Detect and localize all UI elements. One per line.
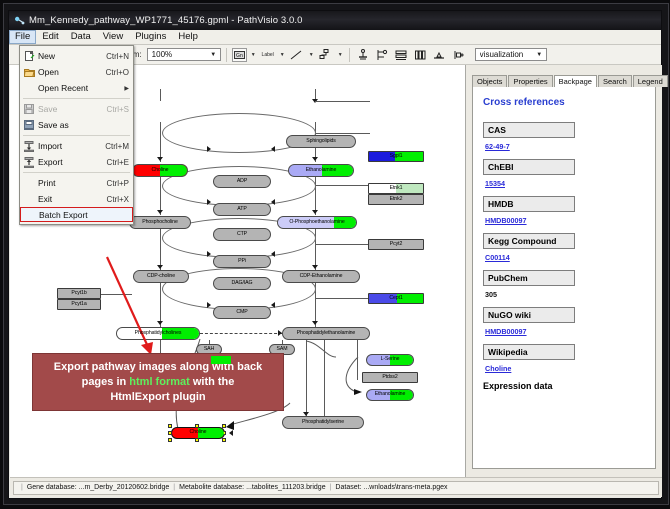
menu-item-label: Export	[38, 157, 103, 167]
arrow-icon	[271, 251, 275, 257]
node-choline-selected[interactable]: Choline	[171, 427, 225, 439]
connector	[160, 122, 161, 162]
xref-link-nugo[interactable]: HMDB00097	[483, 327, 647, 336]
label-tool-text: Label	[262, 52, 274, 58]
menu-item-accel: Ctrl+X	[103, 195, 129, 204]
status-sep: |	[169, 484, 179, 491]
arrow-icon	[312, 321, 318, 325]
menu-plugins[interactable]: Plugins	[129, 30, 172, 44]
status-dataset-value: ...wnloads\trans-meta.pgex	[363, 484, 447, 491]
menu-item-batch-export[interactable]: Batch Export	[20, 207, 133, 222]
node-cdp-ethanolamine[interactable]: CDP-Ethanolamine	[282, 270, 360, 283]
import-icon	[20, 141, 38, 152]
node-ppi[interactable]: PPi	[213, 255, 271, 268]
xref-key: HMDB	[483, 196, 575, 212]
chevron-down-icon-2: ▼	[535, 52, 544, 58]
arrow-icon	[157, 157, 163, 161]
node-label: SAH	[204, 347, 214, 352]
tab-properties[interactable]: Properties	[508, 75, 552, 88]
submenu-arrow-icon: ▶	[124, 85, 129, 92]
menu-item-accel: Ctrl+O	[102, 68, 129, 77]
xref-row-nugo: NuGO wiki HMDB00097	[483, 307, 647, 336]
tab-objects[interactable]: Objects	[472, 75, 507, 88]
node-label: Choline	[190, 430, 207, 435]
menu-item-export[interactable]: Export Ctrl+E	[20, 154, 133, 170]
menu-help[interactable]: Help	[172, 30, 204, 44]
node-label: Ptdss2	[382, 375, 397, 380]
selection-handle[interactable]	[222, 424, 226, 428]
menu-item-label: Batch Export	[39, 210, 128, 220]
selection-handle[interactable]	[168, 438, 172, 442]
label-dropdown-icon[interactable]: ▼	[279, 52, 286, 58]
node-label: Pcyt1a	[71, 302, 86, 307]
menu-item-open[interactable]: Open Ctrl+O	[20, 64, 133, 80]
xref-row-cas: CAS 62-49-7	[483, 122, 647, 151]
menu-item-new[interactable]: New Ctrl+N	[20, 48, 133, 64]
arrow-icon	[207, 251, 211, 257]
node-label: Phosphatidylethanolamine	[297, 331, 355, 336]
xref-key: NuGO wiki	[483, 307, 575, 323]
interaction-tool-icon[interactable]	[318, 48, 334, 62]
open-folder-icon	[20, 67, 38, 78]
menu-item-exit[interactable]: Exit Ctrl+X	[20, 191, 133, 207]
node-cmp[interactable]: CMP	[213, 306, 271, 319]
node-label: L-Serine	[381, 357, 400, 362]
node-gene-pcyt1a[interactable]: Pcyt1a	[57, 299, 101, 310]
menu-item-accel: Ctrl+M	[101, 142, 129, 151]
menu-item-import[interactable]: Import Ctrl+M	[20, 138, 133, 154]
export-icon	[20, 157, 38, 168]
node-label: Etnk2	[390, 197, 403, 202]
selection-handle[interactable]	[168, 431, 172, 435]
backpage-content: Cross references CAS 62-49-7 ChEBI 15354…	[472, 87, 656, 469]
annotation-arrow-icon	[105, 255, 165, 360]
node-label: Phosphatidylserine	[302, 420, 344, 425]
xref-key: Kegg Compound	[483, 233, 575, 249]
group-icon[interactable]	[431, 48, 447, 62]
node-label: Sphingolipids	[306, 139, 336, 144]
save-as-icon	[20, 120, 38, 130]
xref-row-hmdb: HMDB HMDB00097	[483, 196, 647, 225]
node-gene-sgpl1[interactable]: Sgpl1	[368, 151, 424, 162]
menu-separator	[23, 172, 130, 173]
node-label: Pcyt1b	[71, 291, 86, 296]
toolbar-separator-2	[349, 48, 350, 62]
status-text: | Gene database: ...m_Derby_20120602.bri…	[13, 481, 659, 495]
node-ethanolamine-top[interactable]: Ethanolamine	[288, 164, 354, 177]
node-phosphocholine[interactable]: Phosphocholine	[129, 216, 191, 229]
menu-item-label: Print	[38, 178, 103, 188]
toolbar-separator	[226, 48, 227, 62]
banner-line-3: HtmlExport plugin	[110, 390, 205, 405]
arrow-icon	[157, 210, 163, 214]
menu-separator	[23, 135, 130, 136]
node-label: ADP	[237, 179, 247, 184]
menu-bar: File Edit Data View Plugins Help	[9, 30, 661, 45]
visualization-combo[interactable]: visualization ▼	[475, 48, 547, 61]
xref-link-kegg[interactable]: C00114	[483, 253, 647, 262]
menu-item-label: Save as	[38, 120, 125, 130]
connector	[315, 175, 316, 215]
status-dataset-label: Dataset:	[335, 484, 361, 491]
menu-file[interactable]: File	[9, 30, 36, 44]
connector	[315, 244, 370, 245]
xref-value-pubchem: 305	[483, 290, 647, 299]
connector	[315, 133, 370, 134]
status-gene-db-value: ...m_Derby_20120602.bridge	[79, 484, 170, 491]
node-gene-etnk2[interactable]: Etnk2	[368, 194, 424, 205]
node-label: Cept1	[389, 296, 402, 301]
side-panel: Objects Properties Backpage Search Legen…	[466, 65, 662, 477]
selection-handle[interactable]	[195, 438, 199, 442]
status-gene-db-label: Gene database:	[27, 484, 77, 491]
datanode-dropdown-icon[interactable]: ▼	[250, 52, 257, 58]
status-metabolite-db-value: ...tabolites_111203.bridge	[246, 484, 326, 491]
node-ctp[interactable]: CTP	[213, 228, 271, 241]
node-phosphatidylethanolamine[interactable]: Phosphatidylethanolamine	[282, 327, 370, 340]
xref-link-cas[interactable]: 62-49-7	[483, 142, 647, 151]
node-label: Choline	[152, 168, 169, 173]
selection-handle[interactable]	[222, 438, 226, 442]
align-left-icon[interactable]	[374, 48, 390, 62]
node-ethanolamine-bottom[interactable]: Ethanolamine	[366, 389, 414, 401]
node-label: Pcyt2	[390, 242, 402, 247]
xref-key: PubChem	[483, 270, 575, 286]
annotation-banner: Export pathway images along with back pa…	[32, 353, 284, 411]
node-label: CDP-Ethanolamine	[300, 274, 343, 279]
xref-key: ChEBI	[483, 159, 575, 175]
menu-separator	[23, 98, 130, 99]
node-label: Etnk1	[390, 186, 403, 191]
svg-text:Gn: Gn	[236, 53, 243, 59]
line-dropdown-icon[interactable]: ▼	[308, 52, 315, 58]
status-metabolite-db-label: Metabolite database:	[179, 484, 244, 491]
datanode-tool-icon[interactable]: Gn	[232, 48, 247, 62]
connector	[315, 185, 370, 186]
xref-row-chebi: ChEBI 15354	[483, 159, 647, 188]
zoom-combo[interactable]: 100% ▼	[147, 48, 221, 61]
save-disk-icon	[20, 104, 38, 114]
node-o-phosphoethanolamine[interactable]: O-Phosphoethanolamine	[277, 216, 357, 229]
align-columns-icon[interactable]	[412, 48, 428, 62]
xref-row-pubchem: PubChem 305	[483, 270, 647, 299]
menu-item-accel: Ctrl+S	[103, 105, 129, 114]
arrow-icon	[312, 265, 318, 269]
node-gene-ptdss2[interactable]: Ptdss2	[362, 372, 418, 383]
menu-data[interactable]: Data	[65, 30, 97, 44]
node-gene-pcyt1b[interactable]: Pcyt1b	[57, 288, 101, 299]
arrow-icon	[229, 430, 233, 436]
node-label: Phosphatidylcholines	[135, 331, 182, 336]
banner-line-2-post: with the	[190, 376, 235, 388]
anchor-tool-icon[interactable]	[355, 48, 371, 62]
side-panel-tabs: Objects Properties Backpage Search Legen…	[472, 73, 660, 87]
xref-link-chebi[interactable]: 15354	[483, 179, 647, 188]
connector	[315, 101, 370, 102]
selection-handle[interactable]	[168, 424, 172, 428]
menu-item-label: New	[38, 51, 102, 61]
status-sep: |	[17, 484, 27, 491]
tab-search[interactable]: Search	[598, 75, 632, 88]
menu-item-accel: Ctrl+P	[103, 179, 129, 188]
zoom-value: 100%	[152, 50, 209, 59]
window-title: Mm_Kennedy_pathway_WP1771_45176.gpml - P…	[29, 15, 303, 26]
menu-item-print[interactable]: Print Ctrl+P	[20, 175, 133, 191]
node-label: CDP-choline	[147, 274, 175, 279]
node-gene-pcyt2[interactable]: Pcyt2	[368, 239, 424, 250]
node-label: PPi	[238, 259, 246, 264]
menu-item-label: Import	[38, 141, 101, 151]
menu-item-accel: Ctrl+E	[103, 158, 129, 167]
chevron-down-icon: ▼	[209, 52, 218, 58]
status-sep: |	[326, 484, 336, 491]
xref-key: CAS	[483, 122, 575, 138]
node-adp[interactable]: ADP	[213, 175, 271, 188]
menu-item-label: Save	[38, 104, 103, 114]
interaction-dropdown-icon[interactable]: ▼	[337, 52, 344, 58]
arrow-icon	[312, 210, 318, 214]
connector	[160, 89, 161, 101]
arrow-icon	[207, 302, 211, 308]
menu-item-open-recent[interactable]: Open Recent ▶	[20, 80, 133, 96]
menu-item-label: Exit	[38, 194, 103, 204]
node-label: Ethanolamine	[306, 168, 337, 173]
node-label: CTP	[237, 232, 247, 237]
expression-data-heading: Expression data	[483, 381, 647, 391]
align-stack-icon[interactable]	[393, 48, 409, 62]
line-tool-icon[interactable]	[289, 48, 305, 62]
node-label: Phosphocholine	[142, 220, 178, 225]
arrow-icon	[312, 157, 318, 161]
label-tool-icon[interactable]: Label	[260, 48, 276, 62]
file-menu-dropdown: New Ctrl+N Open Ctrl+O Open Recent ▶	[19, 45, 134, 225]
tab-legend[interactable]: Legend	[633, 75, 668, 88]
banner-line-2-highlight: html format	[129, 376, 190, 388]
tab-backpage[interactable]: Backpage	[554, 75, 597, 89]
banner-line-2-pre: pages in	[82, 376, 130, 388]
menu-item-label: Open Recent	[38, 83, 124, 93]
connector	[160, 175, 161, 215]
arrow-icon	[271, 302, 275, 308]
pathvisio-window: Mm_Kennedy_pathway_WP1771_45176.gpml - P…	[8, 10, 662, 499]
node-phosphatidylserine[interactable]: Phosphatidylserine	[282, 416, 364, 429]
new-file-icon	[20, 51, 38, 62]
xref-link-hmdb[interactable]: HMDB00097	[483, 216, 647, 225]
menu-edit[interactable]: Edit	[36, 30, 64, 44]
ungroup-icon[interactable]	[450, 48, 466, 62]
screenshot-root: Mm_Kennedy_pathway_WP1771_45176.gpml - P…	[0, 0, 670, 509]
menu-view[interactable]: View	[97, 30, 129, 44]
xref-row-kegg: Kegg Compound C00114	[483, 233, 647, 262]
xref-link-wikipedia[interactable]: Choline	[483, 364, 647, 373]
menu-item-accel: Ctrl+N	[102, 52, 129, 61]
xref-row-wikipedia: Wikipedia Choline	[483, 344, 647, 373]
xref-key: Wikipedia	[483, 344, 575, 360]
arrow-icon	[207, 146, 211, 152]
node-choline-top[interactable]: Choline	[132, 164, 188, 177]
node-dag-iag[interactable]: DAG/IAG	[213, 277, 271, 290]
title-bar: Mm_Kennedy_pathway_WP1771_45176.gpml - P…	[9, 11, 661, 30]
visualization-value: visualization	[480, 50, 535, 59]
menu-item-save-as[interactable]: Save as	[20, 117, 133, 133]
arrow-icon	[271, 146, 275, 152]
arrow-icon	[207, 199, 211, 205]
menu-item-label: Open	[38, 67, 102, 77]
cross-references-heading: Cross references	[483, 97, 647, 108]
node-gene-etnk1[interactable]: Etnk1	[368, 183, 424, 194]
menu-item-save[interactable]: Save Ctrl+S	[20, 101, 133, 117]
node-label: DAG/IAG	[232, 281, 253, 286]
node-gene-cept1[interactable]: Cept1	[368, 293, 424, 304]
status-bar: | Gene database: ...m_Derby_20120602.bri…	[10, 477, 662, 497]
node-atp[interactable]: ATP	[213, 203, 271, 216]
pathvisio-app-icon	[14, 15, 25, 26]
connector	[315, 298, 370, 299]
node-sphingolipids[interactable]: Sphingolipids	[286, 135, 356, 148]
node-label: Sgpl1	[390, 154, 403, 159]
node-label: ATP	[237, 207, 246, 212]
node-label: SAM	[277, 347, 288, 352]
node-label: O-Phosphoethanolamine	[289, 220, 344, 225]
node-l-serine[interactable]: L-Serine	[366, 354, 414, 366]
arrow-icon	[271, 199, 275, 205]
banner-line-2: pages in html format with the	[82, 375, 235, 390]
node-label: Ethanolamine	[375, 392, 406, 397]
node-label: CMP	[236, 310, 247, 315]
